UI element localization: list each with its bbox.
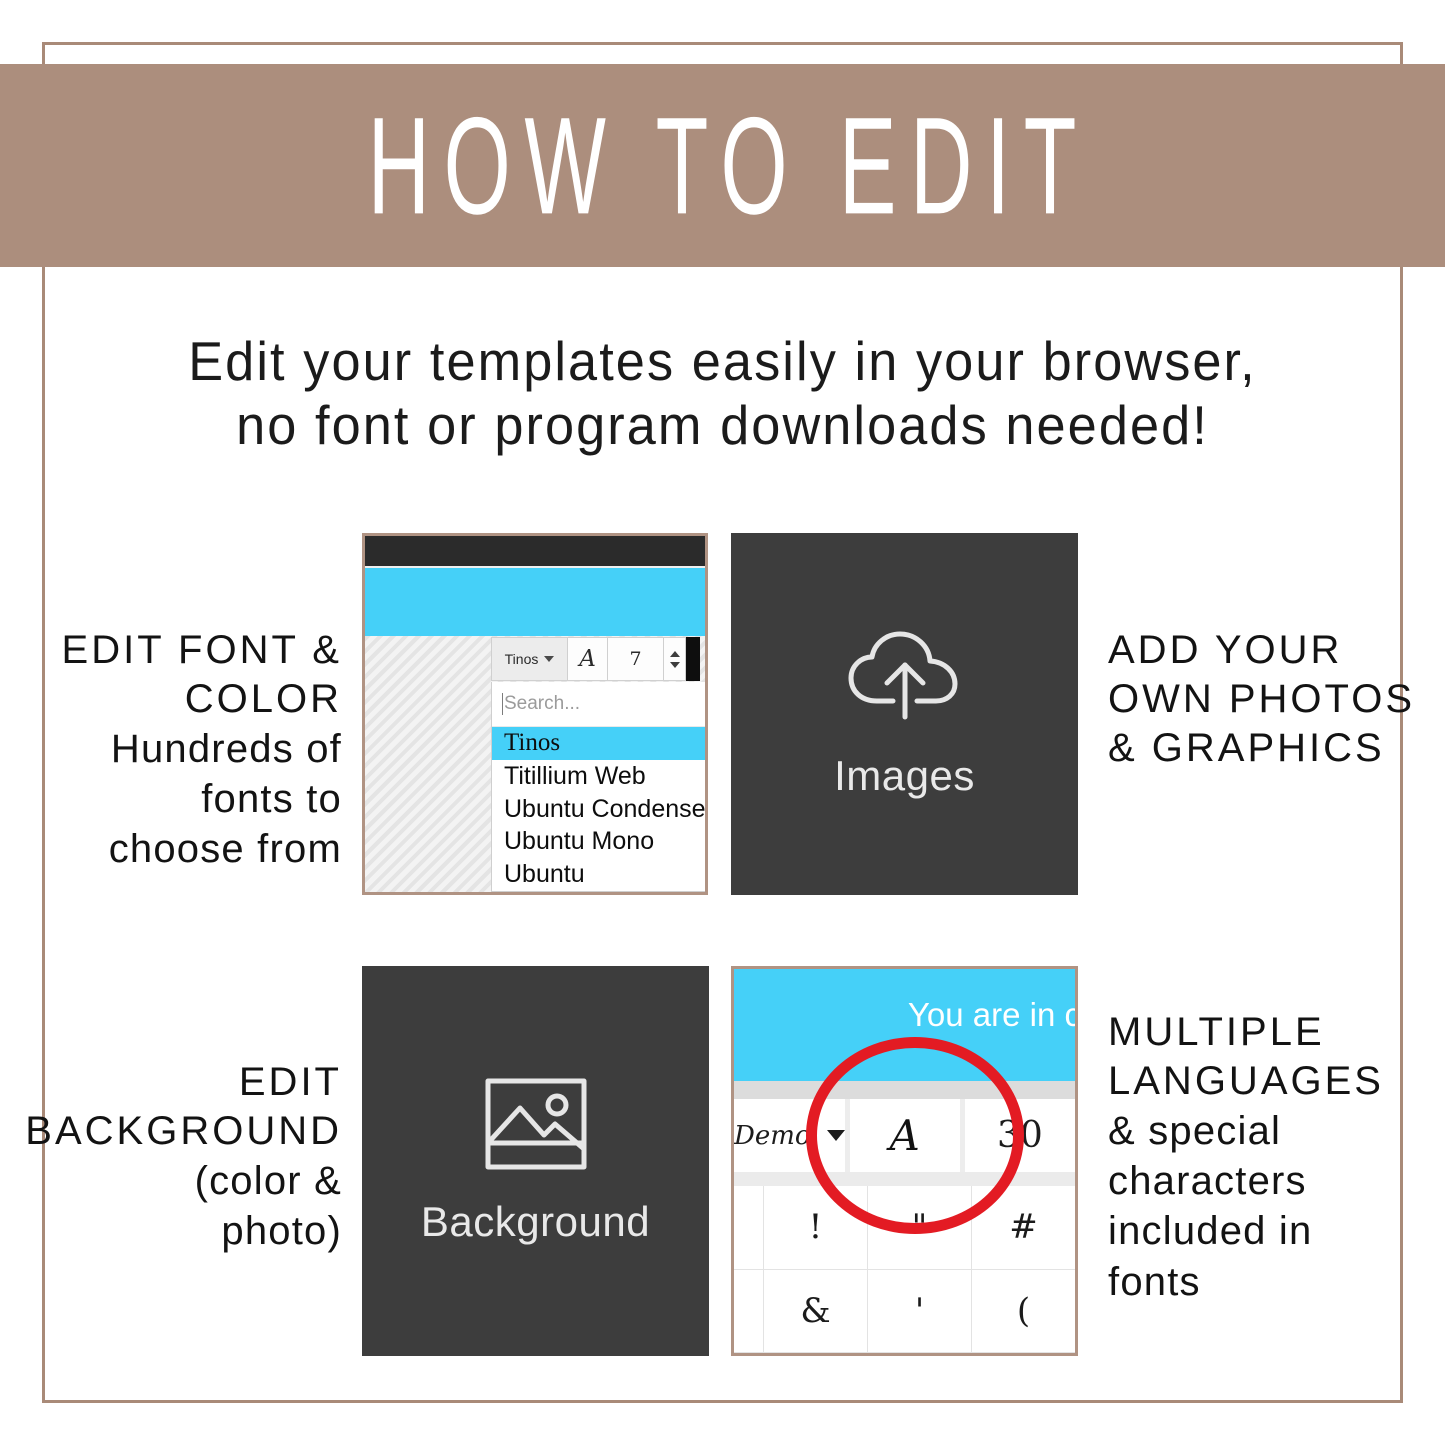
caption-body: (color & photo)	[20, 1156, 342, 1257]
header-banner: HOW TO EDIT	[0, 64, 1445, 267]
charmap-divider-2	[734, 1172, 1075, 1186]
charmap-toolbar: Demo A 30	[734, 1099, 1075, 1172]
charmap-cell[interactable]: (	[972, 1270, 1075, 1353]
caption-line: & GRAPHICS	[1108, 724, 1438, 773]
subtitle: Edit your templates easily in your brows…	[36, 330, 1409, 458]
caption-body: Hundreds of fonts to choose from	[30, 724, 342, 875]
font-size-input[interactable]: 7	[608, 637, 664, 681]
charmap-cell[interactable]	[734, 1186, 764, 1269]
charmap-cell[interactable]: !	[764, 1186, 868, 1269]
screenshot-character-map: You are in c Demo A 30 ! " #	[731, 966, 1078, 1356]
caption-heading: ADD YOUR OWN PHOTOS & GRAPHICS	[1108, 626, 1438, 772]
font-search-placeholder: Search...	[504, 693, 580, 715]
font-list-item[interactable]: Ubuntu Condensed	[492, 793, 708, 826]
chevron-down-icon	[827, 1130, 845, 1141]
page-title: HOW TO EDIT	[354, 96, 1090, 234]
charmap-cell[interactable]	[734, 1270, 764, 1353]
caption-line: ADD YOUR	[1108, 626, 1438, 675]
charmap-accent-bar: You are in c	[734, 969, 1075, 1081]
caption-edit-font-color: EDIT FONT & COLOR Hundreds of fonts to c…	[30, 626, 342, 875]
charmap-grid: ! " # & ' (	[734, 1186, 1075, 1353]
font-search-input[interactable]: Search...	[492, 682, 708, 727]
font-family-dropdown[interactable]: Tinos	[491, 637, 568, 681]
background-tile-content: Background	[362, 966, 709, 1356]
font-dropdown-panel: Search... Tinos Titillium Web Ubuntu Con…	[491, 682, 708, 892]
caption-line: included in	[1108, 1206, 1438, 1256]
screenshot-background-tile[interactable]: Background	[362, 966, 709, 1356]
charmap-row: ! " #	[734, 1186, 1075, 1270]
font-size-stepper[interactable]	[664, 637, 686, 681]
font-toolbar: Tinos A 7	[491, 637, 708, 681]
images-tile-label: Images	[834, 752, 975, 800]
caption-line: (color &	[20, 1156, 342, 1206]
caption-line: OWN PHOTOS	[1108, 675, 1438, 724]
font-list-item[interactable]: Ubuntu Mono	[492, 825, 708, 858]
chevron-down-icon	[544, 656, 554, 662]
charmap-size-value: 30	[997, 1115, 1043, 1156]
editor-titlebar	[365, 536, 705, 566]
script-a-glyph: A	[889, 1111, 919, 1160]
caption-line: fonts to	[30, 774, 342, 824]
charmap-size-input[interactable]: 30	[965, 1099, 1075, 1172]
charmap-style-button[interactable]: A	[850, 1099, 965, 1172]
images-tile-content: Images	[731, 533, 1078, 895]
picture-icon	[484, 1077, 588, 1176]
stepper-up-icon[interactable]	[670, 651, 680, 657]
charmap-font-dropdown[interactable]: Demo	[734, 1099, 850, 1172]
subtitle-line-1: Edit your templates easily in your brows…	[36, 330, 1409, 394]
caption-edit-background: EDIT BACKGROUND (color & photo)	[20, 1058, 342, 1256]
caption-line: characters	[1108, 1156, 1438, 1206]
caption-multiple-languages: MULTIPLE LANGUAGES & special characters …	[1108, 1008, 1438, 1307]
charmap-font-value: Demo	[734, 1121, 811, 1151]
charmap-cell[interactable]: &	[764, 1270, 868, 1353]
font-list-item[interactable]: Titillium Web	[492, 760, 708, 793]
caption-heading: EDIT FONT & COLOR	[30, 626, 342, 724]
subtitle-line-2: no font or program downloads needed!	[36, 394, 1409, 458]
font-list-item[interactable]: Ubuntu	[492, 858, 708, 891]
caption-line: EDIT FONT &	[30, 626, 342, 675]
caption-line: COLOR	[30, 675, 342, 724]
caption-body: & special characters included in fonts	[1108, 1106, 1438, 1308]
charmap-row: & ' (	[734, 1270, 1075, 1354]
caption-line: EDIT	[20, 1058, 342, 1107]
caption-line: choose from	[30, 824, 342, 874]
editor-accent-bar	[365, 568, 705, 636]
charmap-divider	[734, 1081, 1075, 1099]
background-tile-label: Background	[421, 1198, 650, 1246]
charmap-cell[interactable]: #	[972, 1186, 1075, 1269]
font-family-value: Tinos	[505, 651, 539, 667]
font-list: Tinos Titillium Web Ubuntu Condensed Ubu…	[492, 727, 708, 891]
how-to-edit-page: HOW TO EDIT Edit your templates easily i…	[0, 0, 1445, 1445]
caption-heading: MULTIPLE LANGUAGES	[1108, 1008, 1438, 1106]
caption-line: Hundreds of	[30, 724, 342, 774]
caption-line: BACKGROUND	[20, 1107, 342, 1156]
cloud-upload-icon	[841, 629, 969, 730]
script-a-glyph: A	[579, 646, 596, 672]
font-style-button[interactable]: A	[568, 637, 608, 681]
font-list-item[interactable]: Tinos	[492, 727, 708, 760]
charmap-cell[interactable]: "	[868, 1186, 972, 1269]
stepper-down-icon[interactable]	[670, 662, 680, 668]
screenshot-font-picker: Tinos A 7 Search... Tinos Titillium	[362, 533, 708, 895]
caption-heading: EDIT BACKGROUND	[20, 1058, 342, 1156]
text-color-swatch[interactable]	[686, 637, 700, 681]
screenshot-images-tile[interactable]: Images	[731, 533, 1078, 895]
caption-line: photo)	[20, 1206, 342, 1256]
caption-line: LANGUAGES	[1108, 1057, 1438, 1106]
charmap-cell[interactable]: '	[868, 1270, 972, 1353]
caption-line: MULTIPLE	[1108, 1008, 1438, 1057]
font-size-value: 7	[629, 648, 641, 670]
caption-add-photos: ADD YOUR OWN PHOTOS & GRAPHICS	[1108, 626, 1438, 772]
charmap-banner-text: You are in c	[908, 996, 1078, 1034]
caption-line: & special	[1108, 1106, 1438, 1156]
caption-line: fonts	[1108, 1257, 1438, 1307]
text-cursor	[502, 693, 503, 715]
